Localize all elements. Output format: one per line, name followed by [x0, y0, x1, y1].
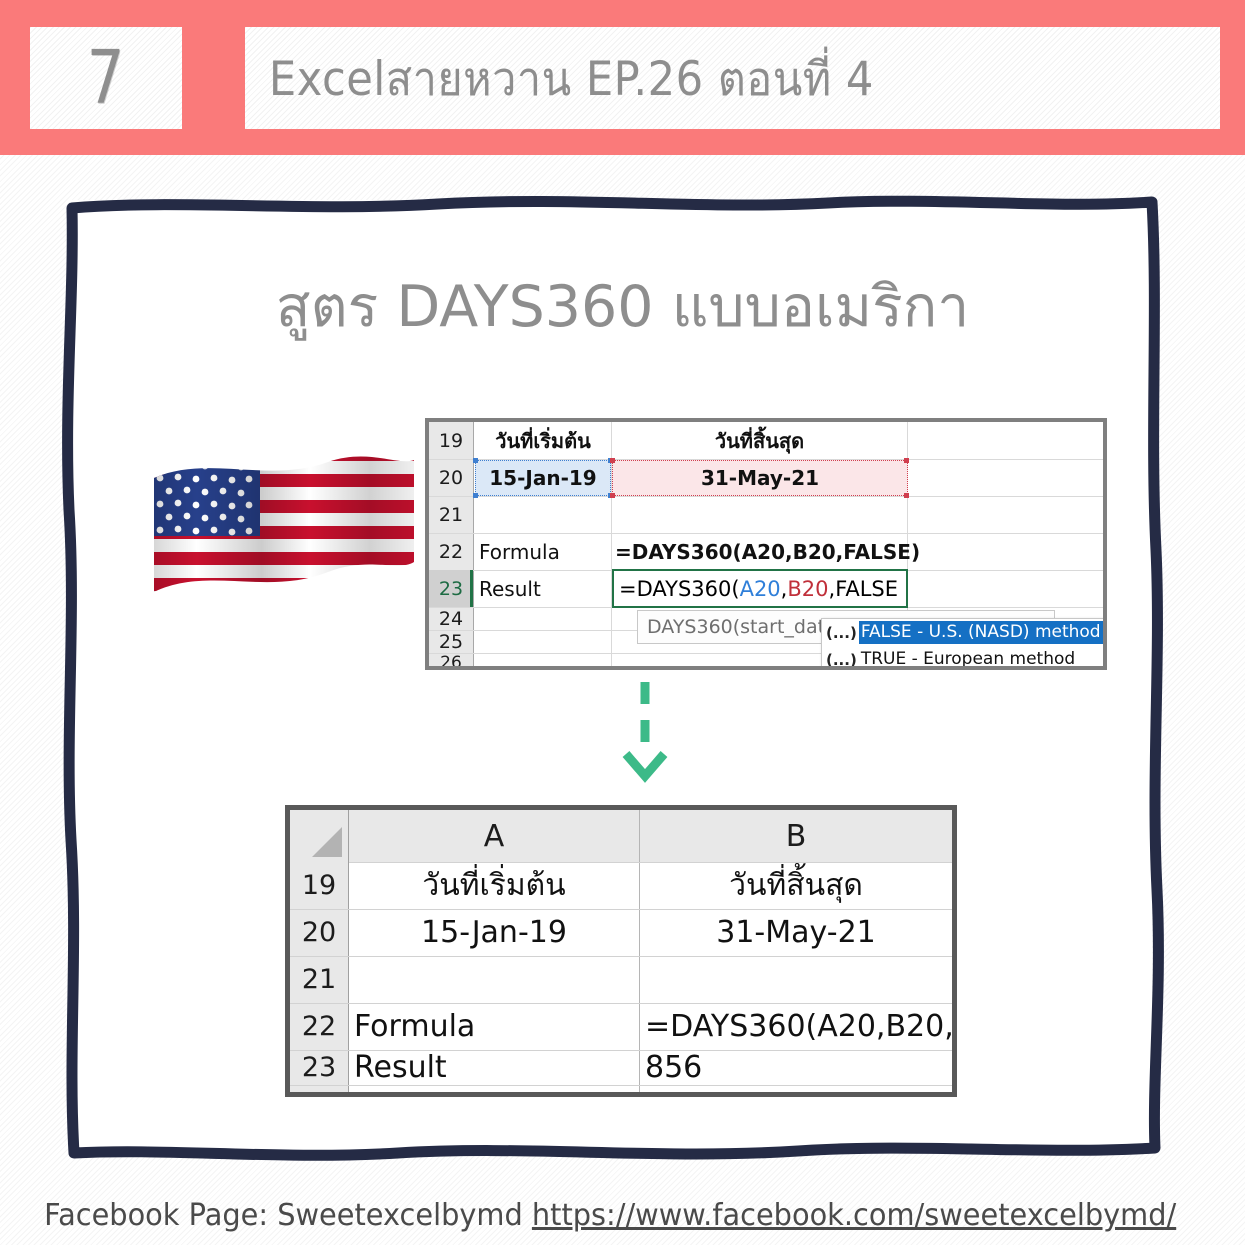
header-title-box: Excelสายหวาน EP.26 ตอนที่ 4 — [245, 27, 1220, 129]
column-header-a[interactable]: A — [349, 810, 639, 862]
cell-a19[interactable]: วันที่เริ่มต้น — [475, 422, 611, 459]
cell-a22[interactable]: Formula — [354, 1003, 475, 1050]
formula-ref-b20: B20 — [787, 577, 828, 601]
footer: Facebook Page: Sweetexcelbymd https://ww… — [0, 1188, 1245, 1243]
header-band: 7 Excelสายหวาน EP.26 ตอนที่ 4 — [0, 0, 1245, 155]
excel-screenshot-top: 19 20 21 22 23 24 25 26 วันที่เริ่มต้น ว… — [425, 418, 1107, 670]
slide-number-badge: 7 — [30, 27, 182, 129]
row-header-24[interactable]: 24 — [429, 607, 473, 630]
row-header-22[interactable]: 22 — [429, 533, 473, 570]
cell-b22[interactable]: =DAYS360(A20,B20,FALSE) — [645, 1003, 957, 1050]
formula-separator: , — [829, 577, 836, 601]
row-header-26[interactable]: 26 — [429, 653, 473, 670]
row-header-22[interactable]: 22 — [290, 1003, 348, 1050]
flag-icon — [148, 440, 418, 630]
excel-grid-top: 19 20 21 22 23 24 25 26 วันที่เริ่มต้น ว… — [429, 422, 1103, 666]
column-header-b[interactable]: B — [640, 810, 952, 862]
excel-table-bottom: A B 19 20 21 22 23 วันที่เริ่มต้น วันที่… — [285, 805, 957, 1097]
active-cell-b23[interactable]: =DAYS360(A20,B20,FALSE — [612, 569, 908, 608]
cell-b19[interactable]: วันที่สิ้นสุด — [640, 862, 952, 909]
row-header-19[interactable]: 19 — [290, 862, 348, 909]
slide-number-text: 7 — [87, 41, 125, 115]
cell-b21[interactable] — [640, 956, 952, 1003]
autocomplete-option-false[interactable]: (...) FALSE - U.S. (NASD) method — [822, 619, 1104, 646]
parameter-icon: (...) — [822, 624, 859, 642]
formula-suffix: FALSE — [835, 577, 898, 601]
cell-b19[interactable]: วันที่สิ้นสุด — [612, 422, 907, 459]
formula-ref-a20: A20 — [740, 577, 781, 601]
flow-arrow — [612, 678, 678, 783]
page-title: สูตร DAYS360 แบบอเมริกา — [0, 262, 1245, 352]
formula-separator: , — [781, 577, 788, 601]
green-dashed-down-arrow-icon — [612, 678, 678, 783]
cell-a20[interactable]: 15-Jan-19 — [475, 460, 611, 496]
row-header-21[interactable]: 21 — [290, 956, 348, 1003]
row-header-25[interactable]: 25 — [429, 630, 473, 653]
autocomplete-option-true[interactable]: (...) TRUE - European method — [822, 646, 1104, 670]
row-header-19[interactable]: 19 — [429, 422, 473, 459]
row-header-23[interactable]: 23 — [429, 570, 473, 607]
cell-b20[interactable]: 31-May-21 — [640, 909, 952, 956]
row-header-20[interactable]: 20 — [290, 909, 348, 956]
us-flag-image — [148, 440, 418, 630]
select-all-corner[interactable] — [290, 810, 348, 862]
facebook-page-link[interactable]: https://www.facebook.com/sweetexcelbymd/ — [532, 1198, 1176, 1233]
row-divider — [290, 1085, 952, 1086]
autocomplete-dropdown[interactable]: (...) FALSE - U.S. (NASD) method (...) T… — [821, 618, 1105, 670]
excel-grid-bottom: A B 19 20 21 22 23 วันที่เริ่มต้น วันที่… — [290, 810, 952, 1092]
row-divider — [429, 496, 1103, 497]
footer-prefix: Facebook Page: Sweetexcelbymd — [44, 1198, 532, 1233]
autocomplete-option-label: TRUE - European method — [859, 648, 1079, 670]
cell-b22[interactable]: =DAYS360(A20,B20,FALSE) — [615, 533, 920, 570]
cell-a23[interactable]: Result — [479, 570, 541, 607]
row-header-20[interactable]: 20 — [429, 459, 473, 496]
row-header-21[interactable]: 21 — [429, 496, 473, 533]
cell-a19[interactable]: วันที่เริ่มต้น — [349, 862, 639, 909]
row-header-23[interactable]: 23 — [290, 1050, 348, 1085]
cell-a20[interactable]: 15-Jan-19 — [349, 909, 639, 956]
footer-text: Facebook Page: Sweetexcelbymd https://ww… — [0, 1198, 1176, 1233]
cell-a23[interactable]: Result — [354, 1050, 447, 1085]
header-title-text: Excelสายหวาน EP.26 ตอนที่ 4 — [245, 41, 874, 116]
cell-a22[interactable]: Formula — [479, 533, 560, 570]
formula-prefix: =DAYS360( — [619, 577, 740, 601]
cell-b23[interactable]: 856 — [645, 1050, 702, 1085]
cell-a21[interactable] — [349, 956, 639, 1003]
parameter-icon: (...) — [822, 651, 859, 669]
autocomplete-option-label: FALSE - U.S. (NASD) method — [859, 621, 1105, 644]
cell-b20[interactable]: 31-May-21 — [612, 460, 908, 496]
